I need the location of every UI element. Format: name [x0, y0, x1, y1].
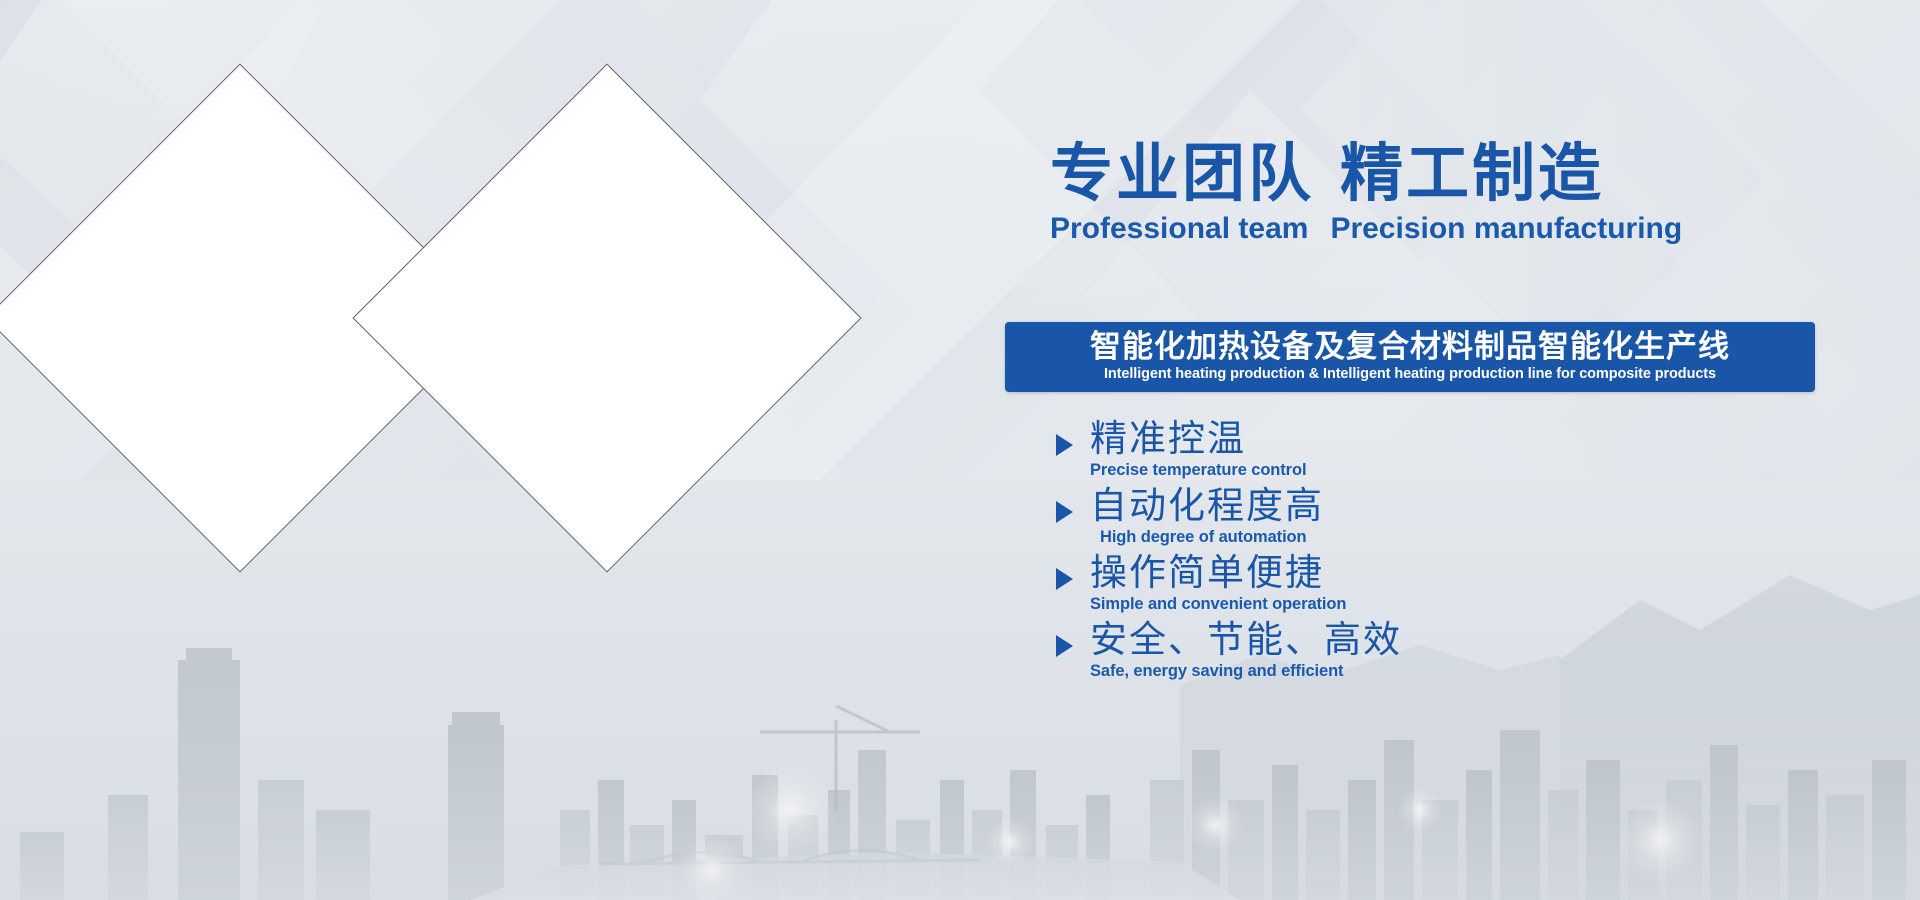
headline-english: Professional teamPrecision manufacturing — [1050, 212, 1910, 246]
headline-block: 专业团队精工制造 Professional teamPrecision manu… — [1050, 140, 1910, 246]
feature-chinese: 安全、节能、高效 — [1090, 619, 1402, 662]
banner-stage: 专业团队精工制造 Professional teamPrecision manu… — [0, 0, 1920, 900]
diamond-right-frame — [352, 63, 861, 572]
triangle-right-icon — [1056, 434, 1073, 456]
headline-en-part1: Professional team — [1050, 212, 1308, 245]
headline-chinese: 专业团队精工制造 — [1050, 140, 1910, 208]
feature-item: 操作简单便捷 Simple and convenient operation — [1048, 554, 1748, 621]
feature-chinese: 精准控温 — [1090, 418, 1306, 461]
headline-cn-part1: 专业团队 — [1050, 137, 1314, 210]
feature-english: Safe, energy saving and efficient — [1090, 662, 1402, 682]
triangle-right-icon — [1056, 635, 1073, 657]
triangle-right-icon — [1056, 568, 1073, 590]
feature-item: 安全、节能、高效 Safe, energy saving and efficie… — [1048, 621, 1748, 688]
feature-list: 精准控温 Precise temperature control 自动化程度高 … — [1048, 420, 1748, 688]
feature-english: Simple and convenient operation — [1090, 595, 1346, 615]
feature-chinese: 自动化程度高 — [1090, 485, 1324, 528]
feature-chinese: 操作简单便捷 — [1090, 552, 1346, 595]
feature-item: 精准控温 Precise temperature control — [1048, 420, 1748, 487]
highlight-banner-chinese: 智能化加热设备及复合材料制品智能化生产线 — [1090, 331, 1730, 364]
feature-item: 自动化程度高 High degree of automation — [1048, 487, 1748, 554]
feature-english: High degree of automation — [1100, 528, 1324, 548]
headline-cn-part2: 精工制造 — [1340, 137, 1604, 210]
triangle-right-icon — [1056, 501, 1073, 523]
feature-english: Precise temperature control — [1090, 461, 1306, 481]
diamond-photo-right — [427, 138, 787, 498]
headline-en-part2: Precision manufacturing — [1330, 212, 1682, 245]
highlight-banner: 智能化加热设备及复合材料制品智能化生产线 Intelligent heating… — [1005, 322, 1815, 392]
banner-content: 专业团队精工制造 Professional teamPrecision manu… — [1040, 0, 1920, 900]
highlight-banner-english: Intelligent heating production & Intelli… — [1104, 365, 1716, 383]
